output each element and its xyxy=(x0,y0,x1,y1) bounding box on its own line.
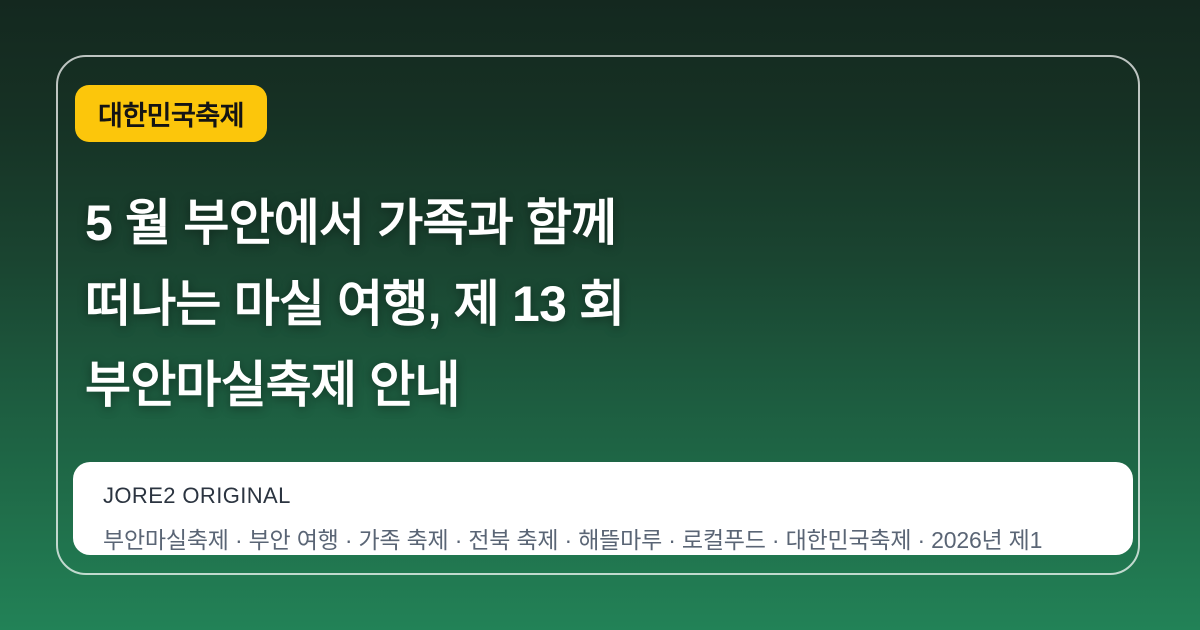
page-title: 5 월 부안에서 가족과 함께 떠나는 마실 여행, 제 13 회 부안마실축제… xyxy=(85,183,1085,426)
category-badge: 대한민국축제 xyxy=(75,85,267,142)
title-line-3: 부안마실축제 안내 xyxy=(85,345,1085,426)
title-line-1: 5 월 부안에서 가족과 함께 xyxy=(85,183,1085,264)
brand-label: JORE2 ORIGINAL xyxy=(103,483,291,509)
title-line-2: 떠나는 마실 여행, 제 13 회 xyxy=(85,264,1085,345)
tag-list: 부안마실축제 · 부안 여행 · 가족 축제 · 전북 축제 · 해뜰마루 · … xyxy=(103,521,1200,555)
card-content: 대한민국축제 5 월 부안에서 가족과 함께 떠나는 마실 여행, 제 13 회… xyxy=(0,0,1200,630)
og-card-canvas: 대한민국축제 5 월 부안에서 가족과 함께 떠나는 마실 여행, 제 13 회… xyxy=(0,0,1200,630)
